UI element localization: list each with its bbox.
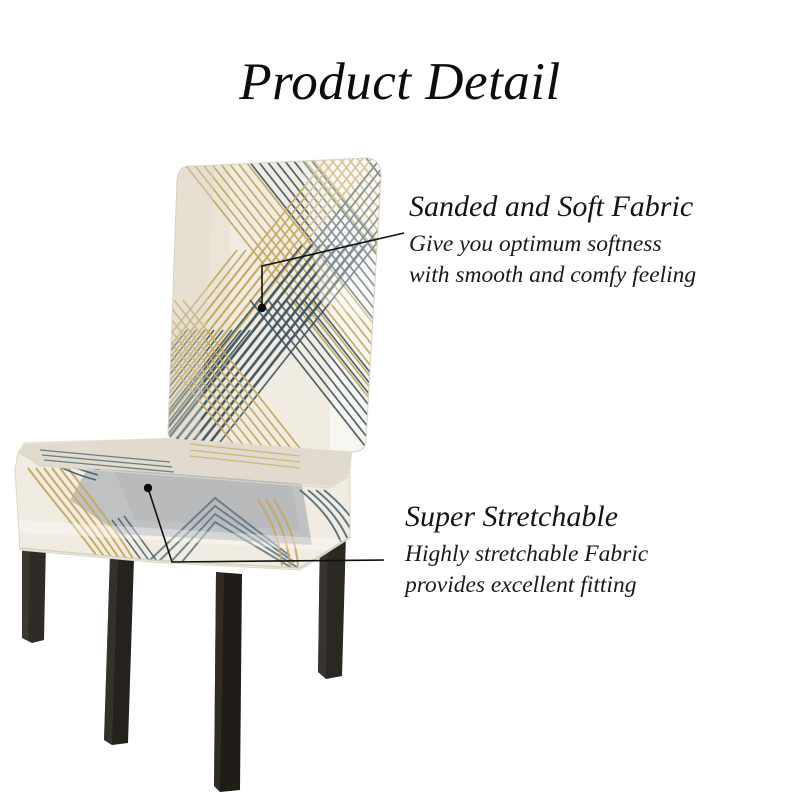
callout-1-body-line-2: with smooth and comfy feeling xyxy=(409,260,696,291)
product-detail-page: Product Detail xyxy=(0,0,800,800)
callout-1-body-line-1: Give you optimum softness xyxy=(409,229,696,260)
callout-2-body-line-1: Highly stretchable Fabric xyxy=(405,539,648,570)
callout-1-heading: Sanded and Soft Fabric xyxy=(409,190,696,223)
chair-illustration xyxy=(0,0,800,800)
callout-2-heading: Super Stretchable xyxy=(405,500,648,533)
callout-2-body: Highly stretchable Fabric provides excel… xyxy=(405,539,648,600)
callout-2-body-line-2: provides excellent fitting xyxy=(405,570,648,601)
callout-1-body: Give you optimum softness with smooth an… xyxy=(409,229,696,290)
callout-sanded-soft-fabric: Sanded and Soft Fabric Give you optimum … xyxy=(409,190,696,290)
callout-super-stretchable: Super Stretchable Highly stretchable Fab… xyxy=(405,500,648,600)
